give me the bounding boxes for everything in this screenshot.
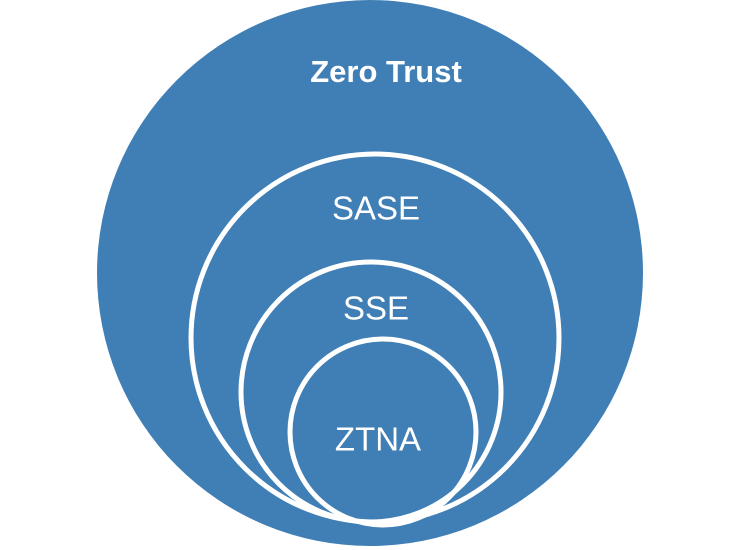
concentric-circles-svg: Zero Trust SASE SSE ZTNA — [0, 0, 740, 550]
zero-trust-diagram: Zero Trust SASE SSE ZTNA — [0, 0, 740, 550]
label-zero-trust: Zero Trust — [310, 54, 462, 89]
label-sse: SSE — [343, 290, 409, 327]
label-ztna: ZTNA — [335, 421, 421, 458]
label-sase: SASE — [332, 190, 420, 227]
